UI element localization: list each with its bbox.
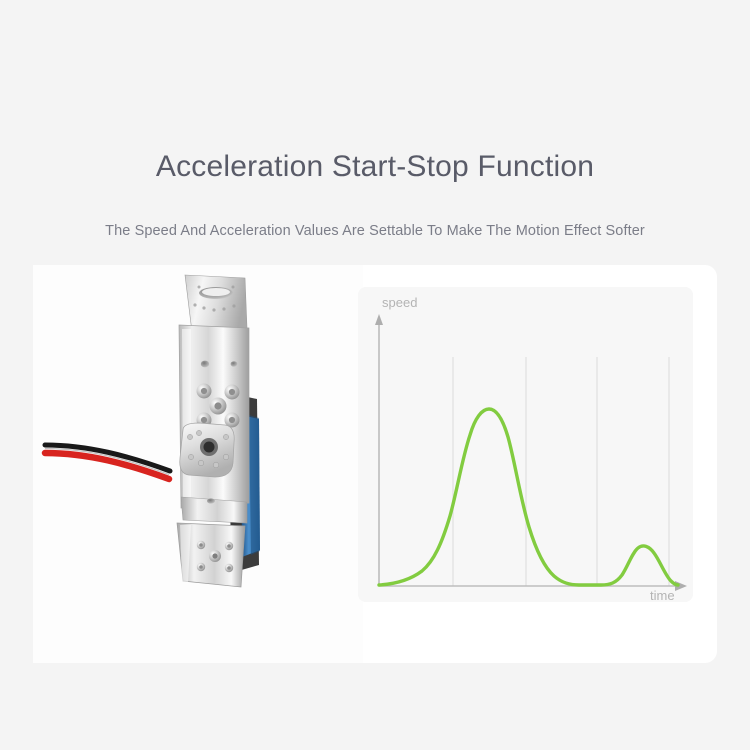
product-photo <box>33 265 363 663</box>
page-subtitle: The Speed And Acceleration Values Are Se… <box>0 189 750 239</box>
x-axis-label: time <box>650 588 675 602</box>
page-title: Acceleration Start-Stop Function <box>0 145 750 189</box>
y-axis-label: speed <box>382 295 417 310</box>
heading-block: Acceleration Start-Stop Function The Spe… <box>0 145 750 239</box>
chart-svg: speed time <box>358 287 693 602</box>
content-card: speed time <box>33 265 717 663</box>
servo-bracket-illustration <box>33 265 363 663</box>
page-root: Acceleration Start-Stop Function The Spe… <box>0 0 750 750</box>
speed-time-chart: speed time <box>358 287 693 602</box>
